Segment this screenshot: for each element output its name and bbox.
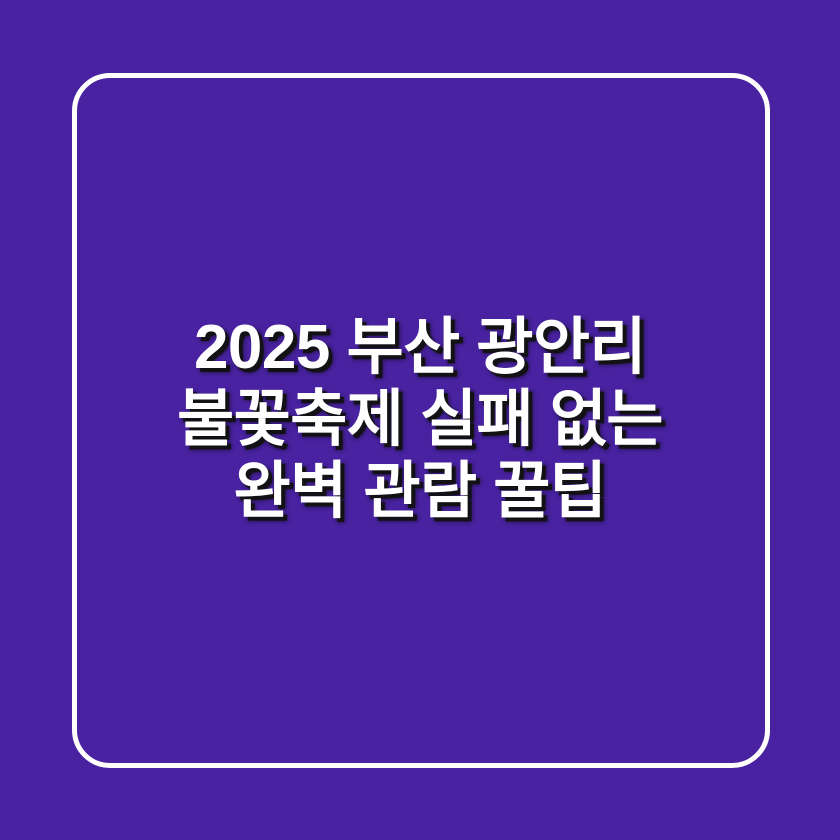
headline-block: 2025 부산 광안리 불꽃축제 실패 없는 완벽 관람 꿀팁 (0, 0, 840, 840)
headline-line-1: 2025 부산 광안리 (194, 312, 646, 384)
headline-line-2: 불꽃축제 실패 없는 (177, 384, 663, 456)
headline-line-3: 완벽 관람 꿀팁 (234, 456, 607, 528)
title-card: 2025 부산 광안리 불꽃축제 실패 없는 완벽 관람 꿀팁 (0, 0, 840, 840)
